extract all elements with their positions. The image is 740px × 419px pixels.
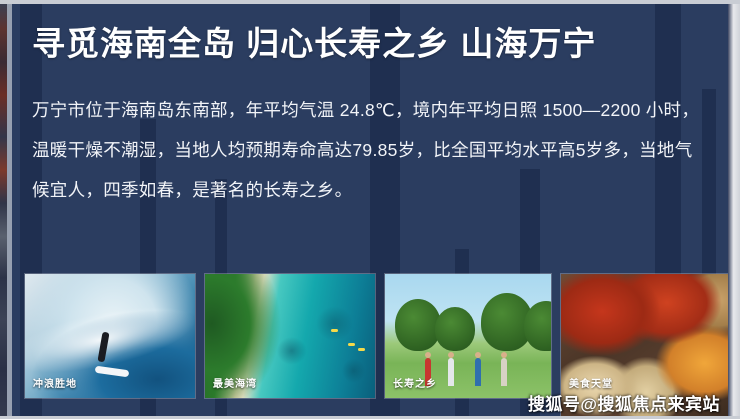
- person-figure: [448, 358, 454, 386]
- next-slide-sliver[interactable]: [728, 4, 740, 419]
- body-paragraph: 万宁市位于海南岛东南部，年平均气温 24.8℃，境内年平均日照 1500—220…: [32, 90, 710, 210]
- person-figure: [501, 358, 507, 386]
- tree-shape: [395, 299, 441, 351]
- tree-shape: [524, 301, 552, 351]
- photo-caption: 长寿之乡: [393, 375, 437, 390]
- photo-caption: 冲浪胜地: [33, 375, 77, 390]
- photo-card-surfing[interactable]: 冲浪胜地: [24, 273, 196, 399]
- tree-shape: [435, 307, 475, 351]
- page-title: 寻觅海南全岛 归心长寿之乡 山海万宁: [32, 22, 702, 66]
- photo-caption: 美食天堂: [569, 375, 613, 390]
- photo-card-bay[interactable]: 最美海湾: [204, 273, 376, 399]
- person-figure: [475, 358, 481, 386]
- watermark: 搜狐号@搜狐焦点来宾站: [528, 390, 720, 415]
- slide-panel: 寻觅海南全岛 归心长寿之乡 山海万宁 万宁市位于海南岛东南部，年平均气温 24.…: [12, 4, 728, 419]
- kayak-dot: [331, 329, 338, 332]
- photo-caption: 最美海湾: [213, 375, 257, 390]
- slide-root: 寻觅海南全岛 归心长寿之乡 山海万宁 万宁市位于海南岛东南部，年平均气温 24.…: [0, 0, 740, 419]
- previous-slide-sliver[interactable]: [0, 4, 7, 419]
- photo-card-longevity[interactable]: 长寿之乡: [384, 273, 552, 399]
